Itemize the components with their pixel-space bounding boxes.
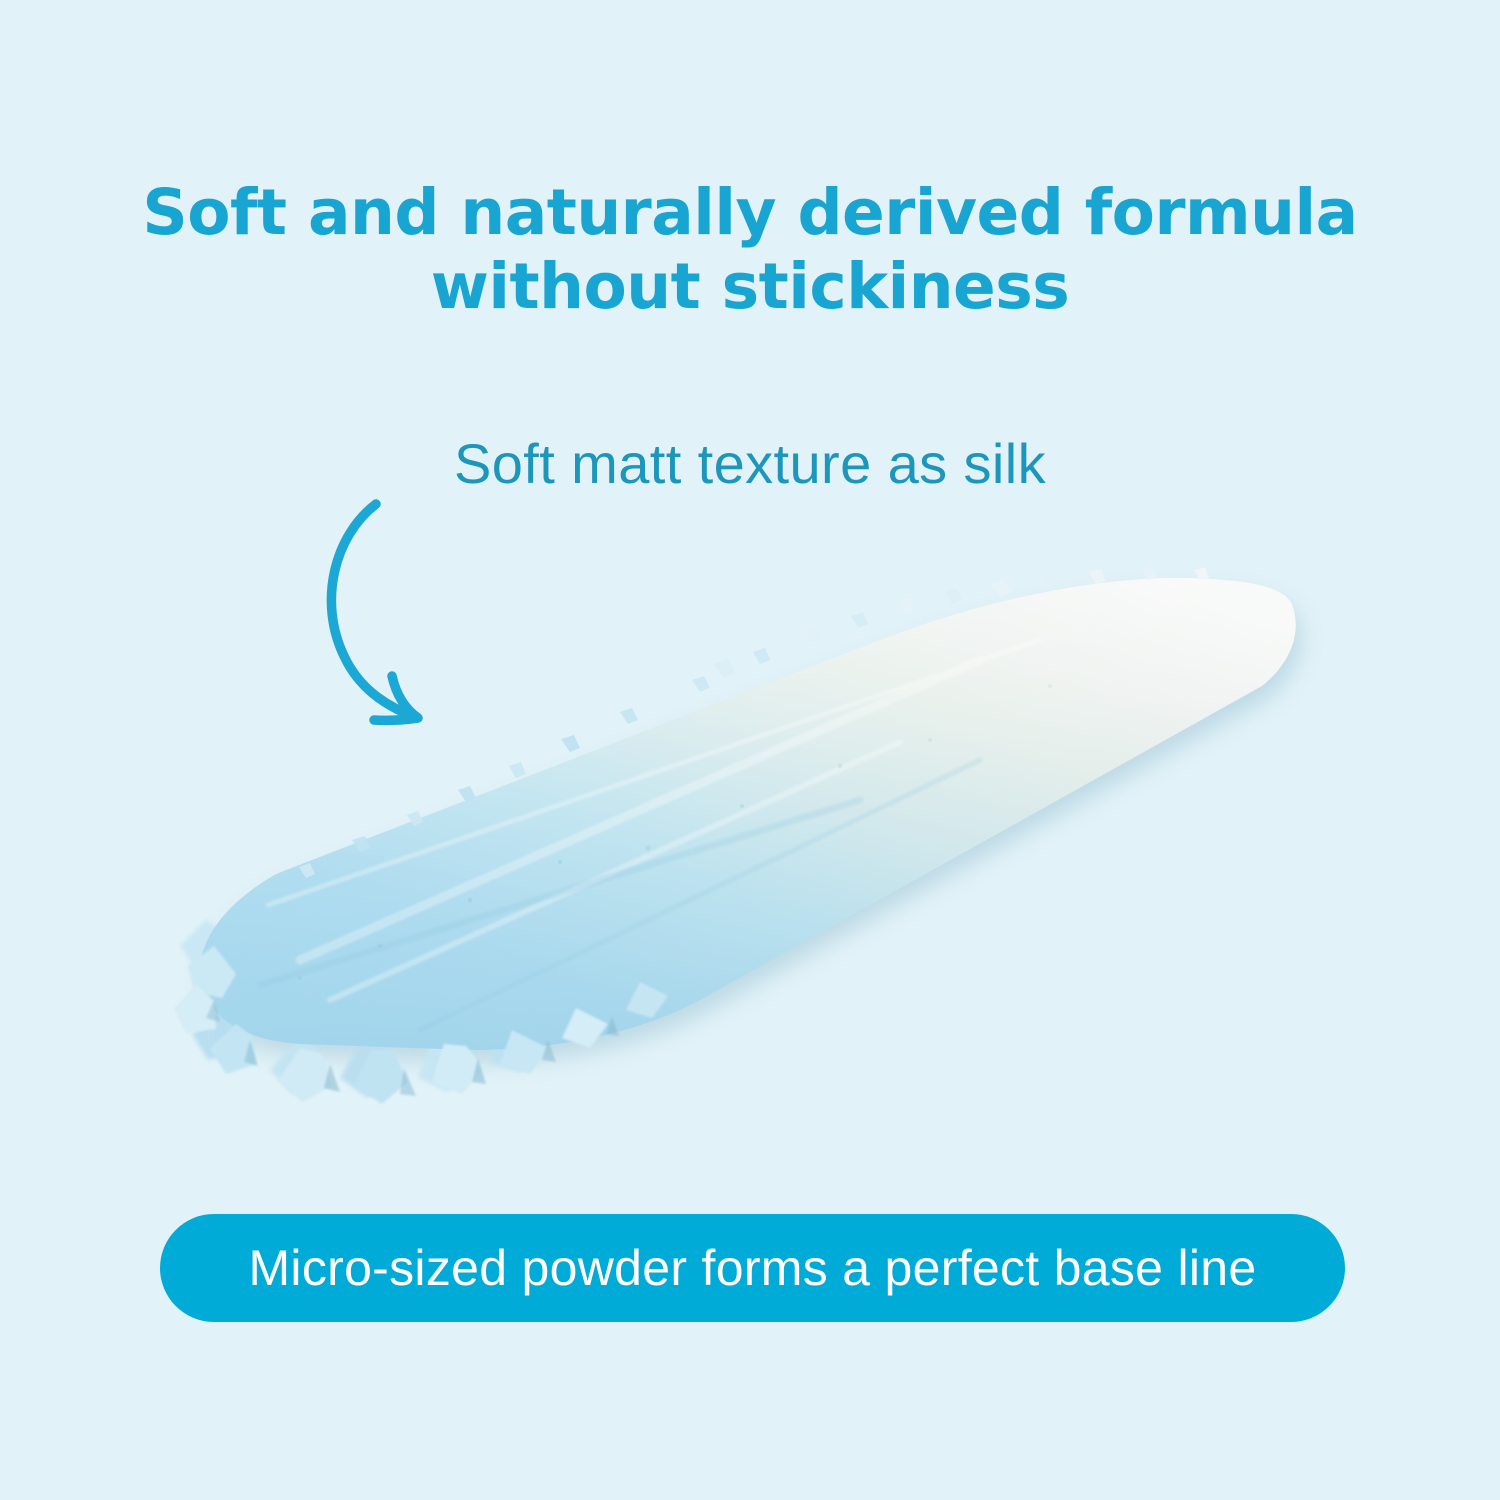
product-feature-panel: Soft and naturally derived formula witho… [0,0,1500,1500]
banner-label: Micro-sized powder forms a perfect base … [248,1243,1256,1293]
curved-down-arrow-icon [300,480,480,740]
headline-line-1: Soft and naturally derived formula [0,176,1500,250]
feature-banner: Micro-sized powder forms a perfect base … [160,1214,1345,1322]
headline-line-2: without stickiness [0,250,1500,324]
subheading-text: Soft matt texture as silk [0,432,1500,496]
page-title: Soft and naturally derived formula witho… [0,176,1500,324]
